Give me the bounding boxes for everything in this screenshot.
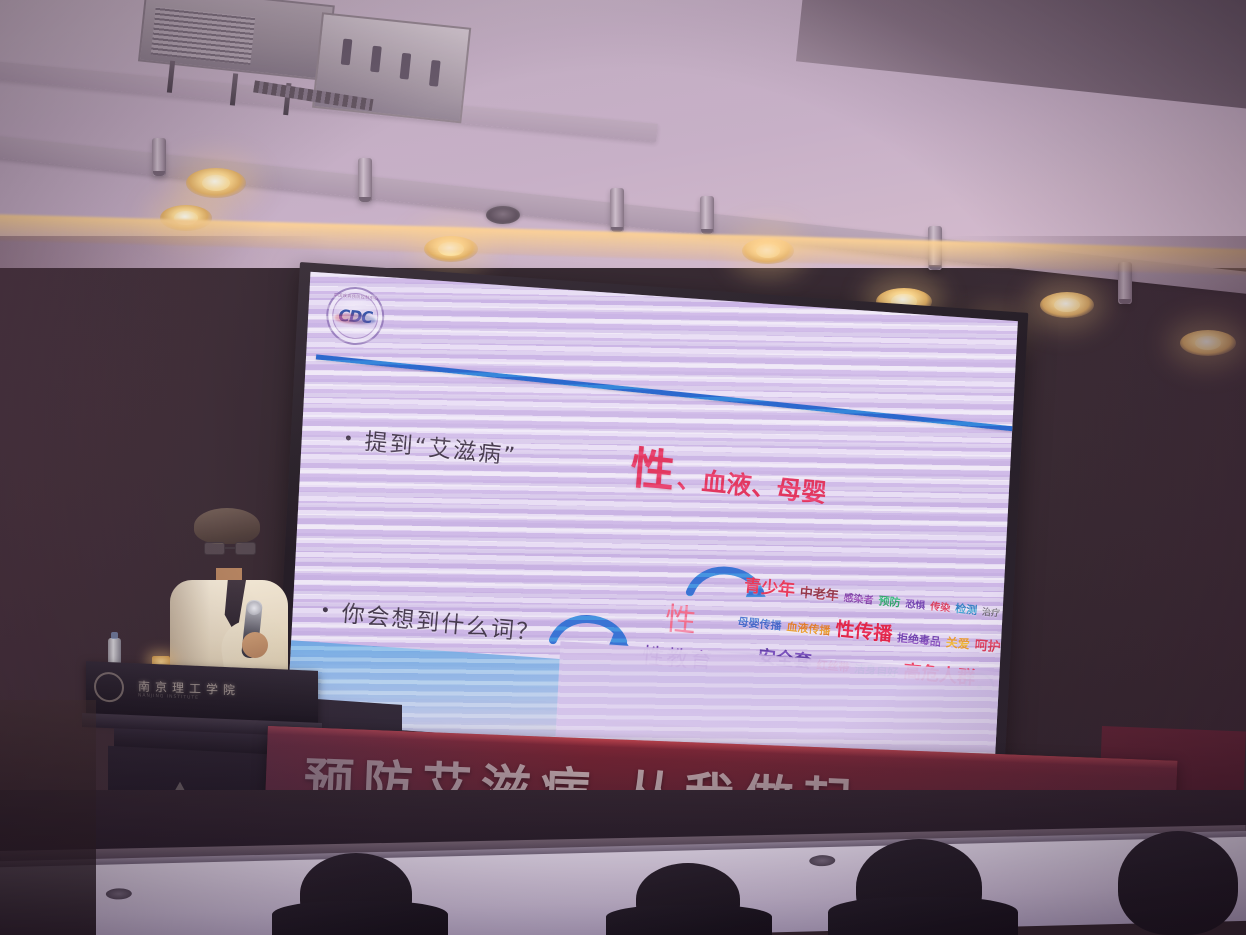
word-cloud-term: 检测 — [955, 600, 978, 618]
pendant-light — [700, 196, 714, 234]
projector-body — [138, 0, 335, 81]
word-cloud-term: 预防 — [878, 592, 901, 610]
cdc-emblem-icon: 中国疾病预防控制中心 CDC — [325, 285, 386, 347]
pendant-light — [152, 138, 166, 176]
word-cloud-term: 拒绝毒品 — [896, 629, 941, 649]
auditorium-scene: 中国疾病预防控制中心 CDC 提到“艾滋病” 性 、血液、母婴 你会想到什么词？ — [0, 0, 1246, 935]
audience-shoulders — [828, 897, 1018, 935]
word-cloud-term: 恐惧 — [905, 595, 926, 612]
word-cloud-term: 呵护 — [974, 634, 1001, 656]
bullet-dot-icon — [346, 435, 351, 440]
word-cloud-term: 血液传播 — [786, 618, 831, 638]
pendant-light — [610, 188, 624, 232]
projector-mount-cage — [312, 12, 471, 123]
word-cloud-term: 青少年 — [743, 571, 796, 601]
answer-rest-words: 、血液、母婴 — [676, 459, 828, 510]
slide-bullet-1-text: 提到“艾滋病” — [363, 422, 518, 471]
word-cloud-term: 母婴传播 — [737, 613, 782, 633]
ceiling-dark-panel — [796, 0, 1246, 109]
ceiling-projector — [135, 0, 425, 118]
slide-accent-rule — [316, 354, 1016, 431]
slide-bullet-2: 你会想到什么词？ — [322, 592, 543, 648]
slide-bullet-1: 提到“艾滋病” — [345, 420, 519, 471]
word-cloud-term: 传染 — [930, 598, 951, 615]
projector-vent — [151, 7, 255, 65]
bullet-dot-icon — [323, 606, 328, 611]
word-cloud-term: 关爱 — [945, 633, 970, 652]
word-cloud-term: 性传播 — [835, 614, 894, 647]
word-cloud-term: 治疗 — [982, 605, 1001, 620]
stage-left-shadow — [0, 700, 96, 935]
word-cloud-term: 中老年 — [799, 582, 839, 605]
downlight — [186, 168, 246, 198]
answer-primary-word: 性 — [628, 432, 678, 500]
slide-answer-transmission: 性 、血液、母婴 — [628, 432, 829, 515]
audience-shoulders — [272, 901, 448, 935]
presenter-hand — [242, 632, 268, 658]
glasses-icon — [204, 542, 256, 555]
sex-callout-word: 性 — [644, 591, 719, 643]
audience-shoulders — [606, 905, 772, 935]
word-cloud-term: 感染者 — [843, 589, 874, 607]
pendant-light — [358, 158, 372, 202]
presenter — [168, 512, 296, 682]
slide-bullet-2-text: 你会想到什么词？ — [340, 594, 542, 648]
school-seal-icon — [94, 671, 124, 702]
ceiling-speaker-icon — [486, 206, 520, 224]
audience-head — [1118, 831, 1238, 935]
slide-canvas: 中国疾病预防控制中心 CDC 提到“艾滋病” 性 、血液、母婴 你会想到什么词？ — [287, 272, 1018, 772]
